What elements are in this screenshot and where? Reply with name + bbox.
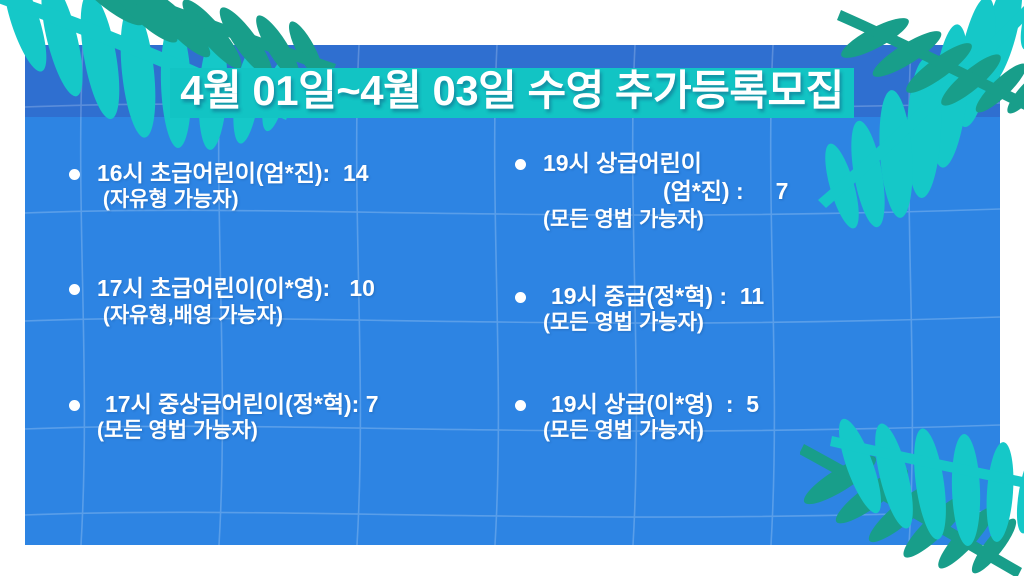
bullet-icon [69,284,80,295]
class-column-right: 19시 상급어린이 (엄*진) : 7 (모든 영법 가능자) 19시 중급(정… [525,150,1000,545]
class-entry-main: 17시 중상급어린이(정*혁): 7 [97,391,525,418]
class-column-left: 16시 초급어린이(엄*진): 14 (자유형 가능자) 17시 초급어린이(이… [25,150,525,545]
class-entry: 19시 상급(이*영) : 5 (모든 영법 가능자) [543,391,1000,444]
class-entry-main: 19시 상급어린이 [543,150,1000,177]
bullet-icon [69,169,80,180]
class-entry-main: 19시 중급(정*혁) : 11 [543,283,1000,310]
class-entry-continued: (엄*진) : 7 [543,177,1000,207]
class-entry-note: (모든 영법 가능자) [543,207,1000,233]
class-listing-columns: 16시 초급어린이(엄*진): 14 (자유형 가능자) 17시 초급어린이(이… [25,150,1000,545]
class-entry: 16시 초급어린이(엄*진): 14 (자유형 가능자) [97,160,525,213]
class-entry: 17시 초급어린이(이*영): 10 (자유형,배영 가능자) [97,275,525,328]
bullet-icon [69,400,80,411]
bullet-icon [515,400,526,411]
poster-title: 4월 01일~4월 03일 수영 추가등록모집 [0,68,1024,118]
class-entry-main: 19시 상급(이*영) : 5 [543,391,1000,418]
bullet-icon [515,292,526,303]
class-entry: 19시 상급어린이 (엄*진) : 7 (모든 영법 가능자) [543,150,1000,233]
title-highlight-box: 4월 01일~4월 03일 수영 추가등록모집 [170,68,854,118]
class-entry-main: 17시 초급어린이(이*영): 10 [97,275,525,302]
class-entry-note: (모든 영법 가능자) [543,418,1000,444]
poster-canvas: 4월 01일~4월 03일 수영 추가등록모집 16시 초급어린이(엄*진): … [0,0,1024,576]
class-entry: 19시 중급(정*혁) : 11 (모든 영법 가능자) [543,283,1000,336]
bullet-icon [515,159,526,170]
class-entry-note: (모든 영법 가능자) [543,310,1000,336]
class-entry: 17시 중상급어린이(정*혁): 7 (모든 영법 가능자) [97,391,525,444]
class-entry-note: (모든 영법 가능자) [97,418,525,444]
class-entry-note: (자유형 가능자) [97,187,525,213]
title-text: 4월 01일~4월 03일 수영 추가등록모집 [180,70,844,112]
class-entry-note: (자유형,배영 가능자) [97,303,525,329]
class-entry-main: 16시 초급어린이(엄*진): 14 [97,160,525,187]
